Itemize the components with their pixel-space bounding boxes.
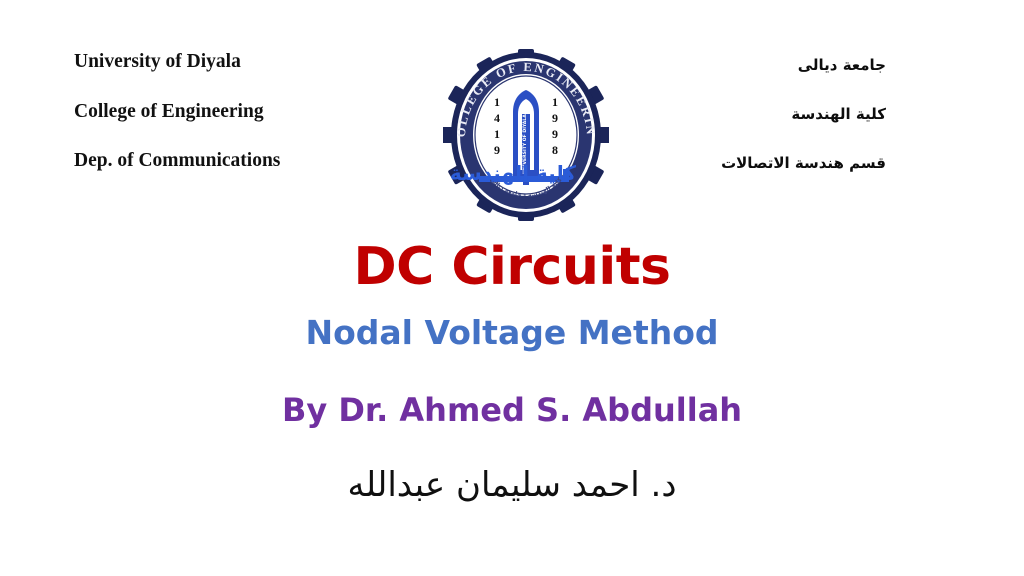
header-right-block-arabic: جامعة ديالى كلية الهندسة قسم هندسة الاتص…	[586, 58, 886, 171]
svg-text:9: 9	[494, 143, 500, 157]
header-left-block: University of Diyala College of Engineer…	[74, 52, 404, 171]
svg-text:1: 1	[552, 95, 558, 109]
university-logo: COLLEGE OF ENGINEERING UNIVERSITY OF DIY…	[443, 44, 609, 226]
header-right-line-department-ar: قسم هندسة الاتصالات	[586, 156, 886, 171]
slide-subtitle: Nodal Voltage Method	[0, 315, 1024, 351]
svg-text:8: 8	[552, 143, 558, 157]
author-byline-arabic: د. احمد سليمان عبدالله	[0, 465, 1024, 506]
presentation-slide: University of Diyala College of Engineer…	[0, 0, 1024, 576]
svg-text:1: 1	[494, 127, 500, 141]
svg-text:4: 4	[494, 111, 500, 125]
header-right-line-college-ar: كلية الهندسة	[586, 107, 886, 122]
slide-title: DC Circuits	[0, 240, 1024, 295]
header-left-line-department: Dep. of Communications	[74, 151, 404, 171]
header-left-line-college: College of Engineering	[74, 102, 404, 122]
svg-text:1: 1	[494, 95, 500, 109]
svg-text:9: 9	[552, 127, 558, 141]
author-byline-english: By Dr. Ahmed S. Abdullah	[0, 393, 1024, 428]
header-right-line-university-ar: جامعة ديالى	[586, 58, 886, 73]
header-left-line-university: University of Diyala	[74, 52, 404, 72]
svg-text:9: 9	[552, 111, 558, 125]
